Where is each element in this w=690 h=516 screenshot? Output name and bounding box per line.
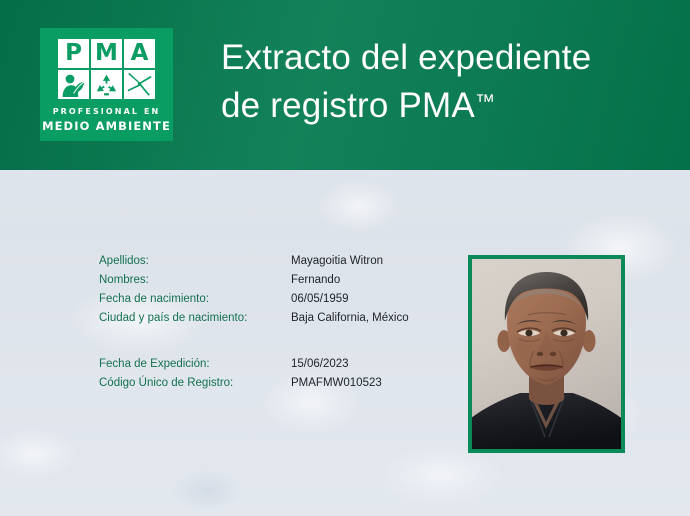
field-row-fecha-nacimiento: Fecha de nacimiento: 06/05/1959 xyxy=(99,293,439,312)
field-row-nombres: Nombres: Fernando xyxy=(99,274,439,293)
page-title: Extracto del expediente de registro PMA™ xyxy=(221,36,681,128)
field-label-codigo-registro: Código Único de Registro: xyxy=(99,377,291,389)
field-row-fecha-expedicion: Fecha de Expedición: 15/06/2023 xyxy=(99,358,439,377)
field-value-fecha-expedicion: 15/06/2023 xyxy=(291,358,349,370)
wind-turbine-icon xyxy=(124,70,155,99)
field-value-nombres: Fernando xyxy=(291,274,340,286)
field-label-nombres: Nombres: xyxy=(99,274,291,286)
field-label-fecha-nacimiento: Fecha de nacimiento: xyxy=(99,293,291,305)
page-title-line-2: de registro PMA xyxy=(221,86,475,125)
pma-logo: P M A xyxy=(40,28,173,141)
field-row-ciudad-pais: Ciudad y país de nacimiento: Baja Califo… xyxy=(99,312,439,331)
field-label-ciudad-pais: Ciudad y país de nacimiento: xyxy=(99,312,291,324)
field-row-apellidos: Apellidos: Mayagoitia Witron xyxy=(99,255,439,274)
record-fields: Apellidos: Mayagoitia Witron Nombres: Fe… xyxy=(99,255,439,396)
logo-letter-p: P xyxy=(65,42,82,65)
field-group-divider xyxy=(99,331,439,358)
logo-tagline-bottom: MEDIO AMBIENTE xyxy=(42,119,171,133)
logo-letter-m: M xyxy=(95,42,118,65)
page-title-line-1: Extracto del expediente xyxy=(221,36,681,80)
portrait-photo-frame xyxy=(468,255,625,453)
logo-letter-p-cell: P xyxy=(58,39,89,68)
id-card-extract: P M A xyxy=(0,0,690,516)
portrait-photo xyxy=(472,259,621,449)
logo-letter-a: A xyxy=(131,42,149,65)
field-label-fecha-expedicion: Fecha de Expedición: xyxy=(99,358,291,370)
header-banner: P M A xyxy=(0,0,690,170)
field-value-ciudad-pais: Baja California, México xyxy=(291,312,409,324)
page-title-line-2-wrap: de registro PMA™ xyxy=(221,80,681,128)
trademark-symbol: ™ xyxy=(475,91,495,113)
field-label-apellidos: Apellidos: xyxy=(99,255,291,267)
field-value-fecha-nacimiento: 06/05/1959 xyxy=(291,293,349,305)
logo-letter-a-cell: A xyxy=(124,39,155,68)
field-value-apellidos: Mayagoitia Witron xyxy=(291,255,383,267)
logo-grid: P M A xyxy=(58,39,155,99)
logo-letter-m-cell: M xyxy=(91,39,122,68)
field-row-codigo-registro: Código Único de Registro: PMAFMW010523 xyxy=(99,377,439,396)
recycling-icon xyxy=(91,70,122,99)
logo-tagline-top: PROFESIONAL EN xyxy=(53,107,161,116)
person-leaf-icon xyxy=(58,70,89,99)
field-value-codigo-registro: PMAFMW010523 xyxy=(291,377,382,389)
